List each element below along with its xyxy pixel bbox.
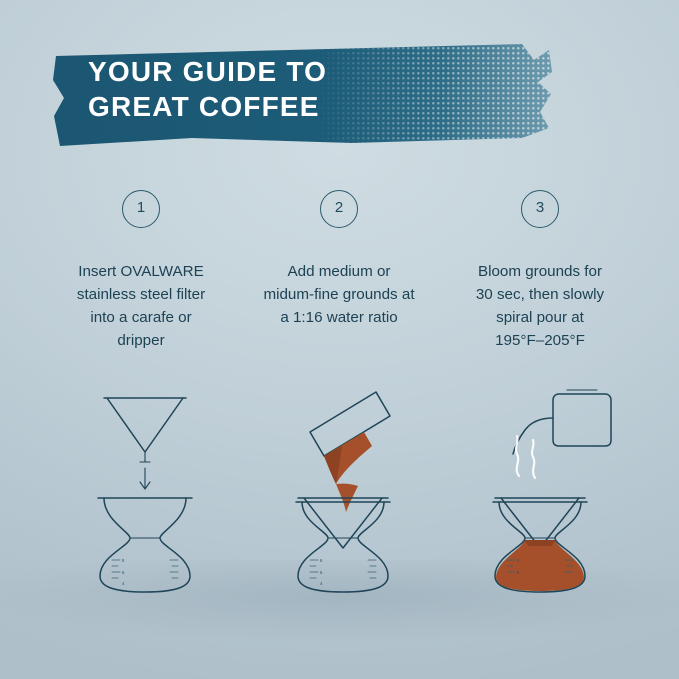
svg-text:4: 4	[122, 581, 125, 586]
illustration-step-3: 8 6	[455, 380, 625, 605]
step-column-3: 3 Bloom grounds for 30 sec, then slowly …	[437, 190, 643, 352]
banner-title: YOUR GUIDE TO GREAT COFFEE	[88, 54, 327, 125]
step-number-badge-3: 3	[521, 190, 559, 228]
coffee-scoop-icon	[310, 392, 390, 512]
svg-text:6: 6	[122, 570, 125, 575]
svg-text:8: 8	[320, 558, 323, 563]
step-text-3: Bloom grounds for 30 sec, then slowly sp…	[437, 260, 643, 352]
cone-filter-icon	[104, 398, 186, 462]
svg-text:6: 6	[320, 570, 323, 575]
banner: YOUR GUIDE TO GREAT COFFEE	[52, 42, 556, 150]
svg-text:8: 8	[122, 558, 125, 563]
svg-text:4: 4	[320, 581, 323, 586]
gooseneck-kettle-icon	[513, 390, 611, 454]
step-column-1: 1 Insert OVALWARE stainless steel filter…	[38, 190, 244, 352]
illustration-step-2: 8 6 4	[258, 380, 428, 605]
step-number-badge-2: 2	[320, 190, 358, 228]
cone-filter-icon	[298, 498, 388, 548]
pour-grounds-icon: 8 6 4	[258, 380, 428, 600]
kettle-pour-icon: 8 6	[455, 380, 625, 600]
down-arrow-icon	[140, 468, 150, 489]
steam-icon	[516, 436, 535, 478]
step-text-2: Add medium or midum-fine grounds at a 1:…	[236, 260, 442, 329]
infographic-page: YOUR GUIDE TO GREAT COFFEE 1 Insert OVAL…	[0, 0, 679, 679]
filter-into-carafe-icon: 8 6 4	[60, 380, 230, 600]
step-column-2: 2 Add medium or midum-fine grounds at a …	[236, 190, 442, 329]
illustration-step-1: 8 6 4	[60, 380, 230, 605]
carafe-icon: 8 6	[493, 502, 587, 592]
carafe-icon: 8 6 4	[98, 498, 192, 592]
step-number-badge-1: 1	[122, 190, 160, 228]
step-text-1: Insert OVALWARE stainless steel filter i…	[38, 260, 244, 352]
